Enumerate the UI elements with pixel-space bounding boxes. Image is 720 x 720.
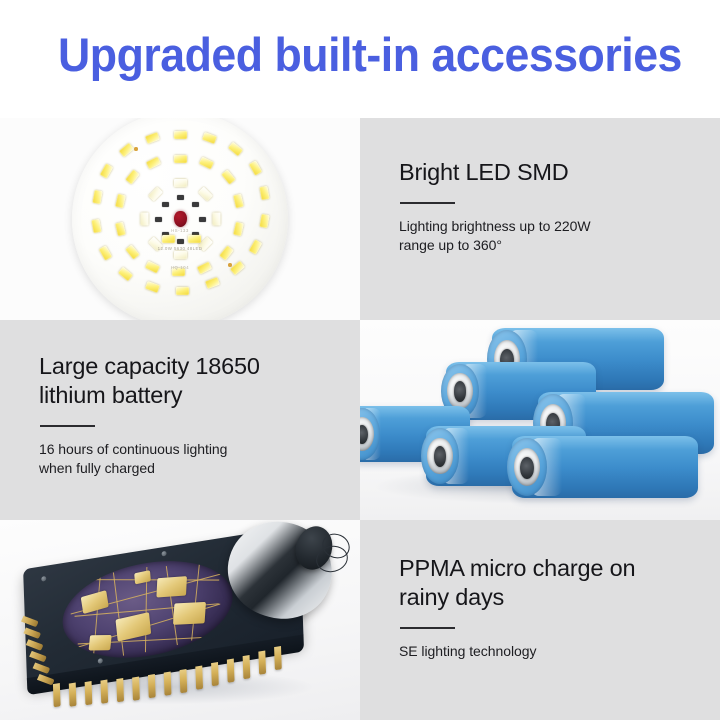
board-mark-dot	[228, 263, 232, 267]
page-title: Upgraded built-in accessories	[58, 29, 682, 81]
feature-text-led-smd: Bright LED SMD Lighting brightness up to…	[360, 118, 720, 320]
led-pcb: HS-133 12.0W 5630 48LED HQ-104	[72, 118, 288, 320]
feature-heading-lithium-battery: Large capacity 18650 lithium battery	[39, 352, 344, 410]
header-banner: Upgraded built-in accessories	[0, 0, 720, 118]
led-board-image: HS-133 12.0W 5630 48LED HQ-104	[0, 118, 360, 320]
divider-rule	[400, 627, 455, 629]
board-mark-dot	[134, 147, 138, 151]
product-infographic: Upgraded built-in accessories	[0, 0, 720, 720]
divider-rule	[40, 425, 95, 427]
feature-heading-ppma-micro-charge: PPMA micro charge on rainy days	[399, 554, 704, 612]
led-center-component	[174, 211, 187, 227]
feature-image-led-smd: HS-133 12.0W 5630 48LED HQ-104	[0, 118, 360, 320]
feature-subtext-lithium-battery: 16 hours of continuous lighting when ful…	[39, 440, 344, 478]
board-silkscreen-1: HS-133	[171, 228, 189, 233]
feature-heading-led-smd: Bright LED SMD	[399, 158, 704, 187]
feature-image-ppma-micro-charge	[0, 520, 360, 720]
ic-chip-image	[0, 520, 360, 720]
feature-text-lithium-battery: Large capacity 18650 lithium battery 16 …	[0, 320, 360, 520]
feature-text-ppma-micro-charge: PPMA micro charge on rainy days SE light…	[360, 520, 720, 720]
feature-grid: HS-133 12.0W 5630 48LED HQ-104 Bright LE…	[0, 118, 720, 720]
board-silkscreen-2: 12.0W 5630 48LED	[158, 246, 203, 251]
board-silkscreen-3: HQ-104	[171, 265, 189, 270]
divider-rule	[400, 202, 455, 204]
feature-image-lithium-battery	[360, 320, 720, 520]
feature-subtext-led-smd: Lighting brightness up to 220W range up …	[399, 217, 704, 255]
feature-subtext-ppma-micro-charge: SE lighting technology	[399, 642, 704, 661]
battery-cell	[512, 436, 698, 498]
battery-cells-image	[360, 320, 720, 520]
